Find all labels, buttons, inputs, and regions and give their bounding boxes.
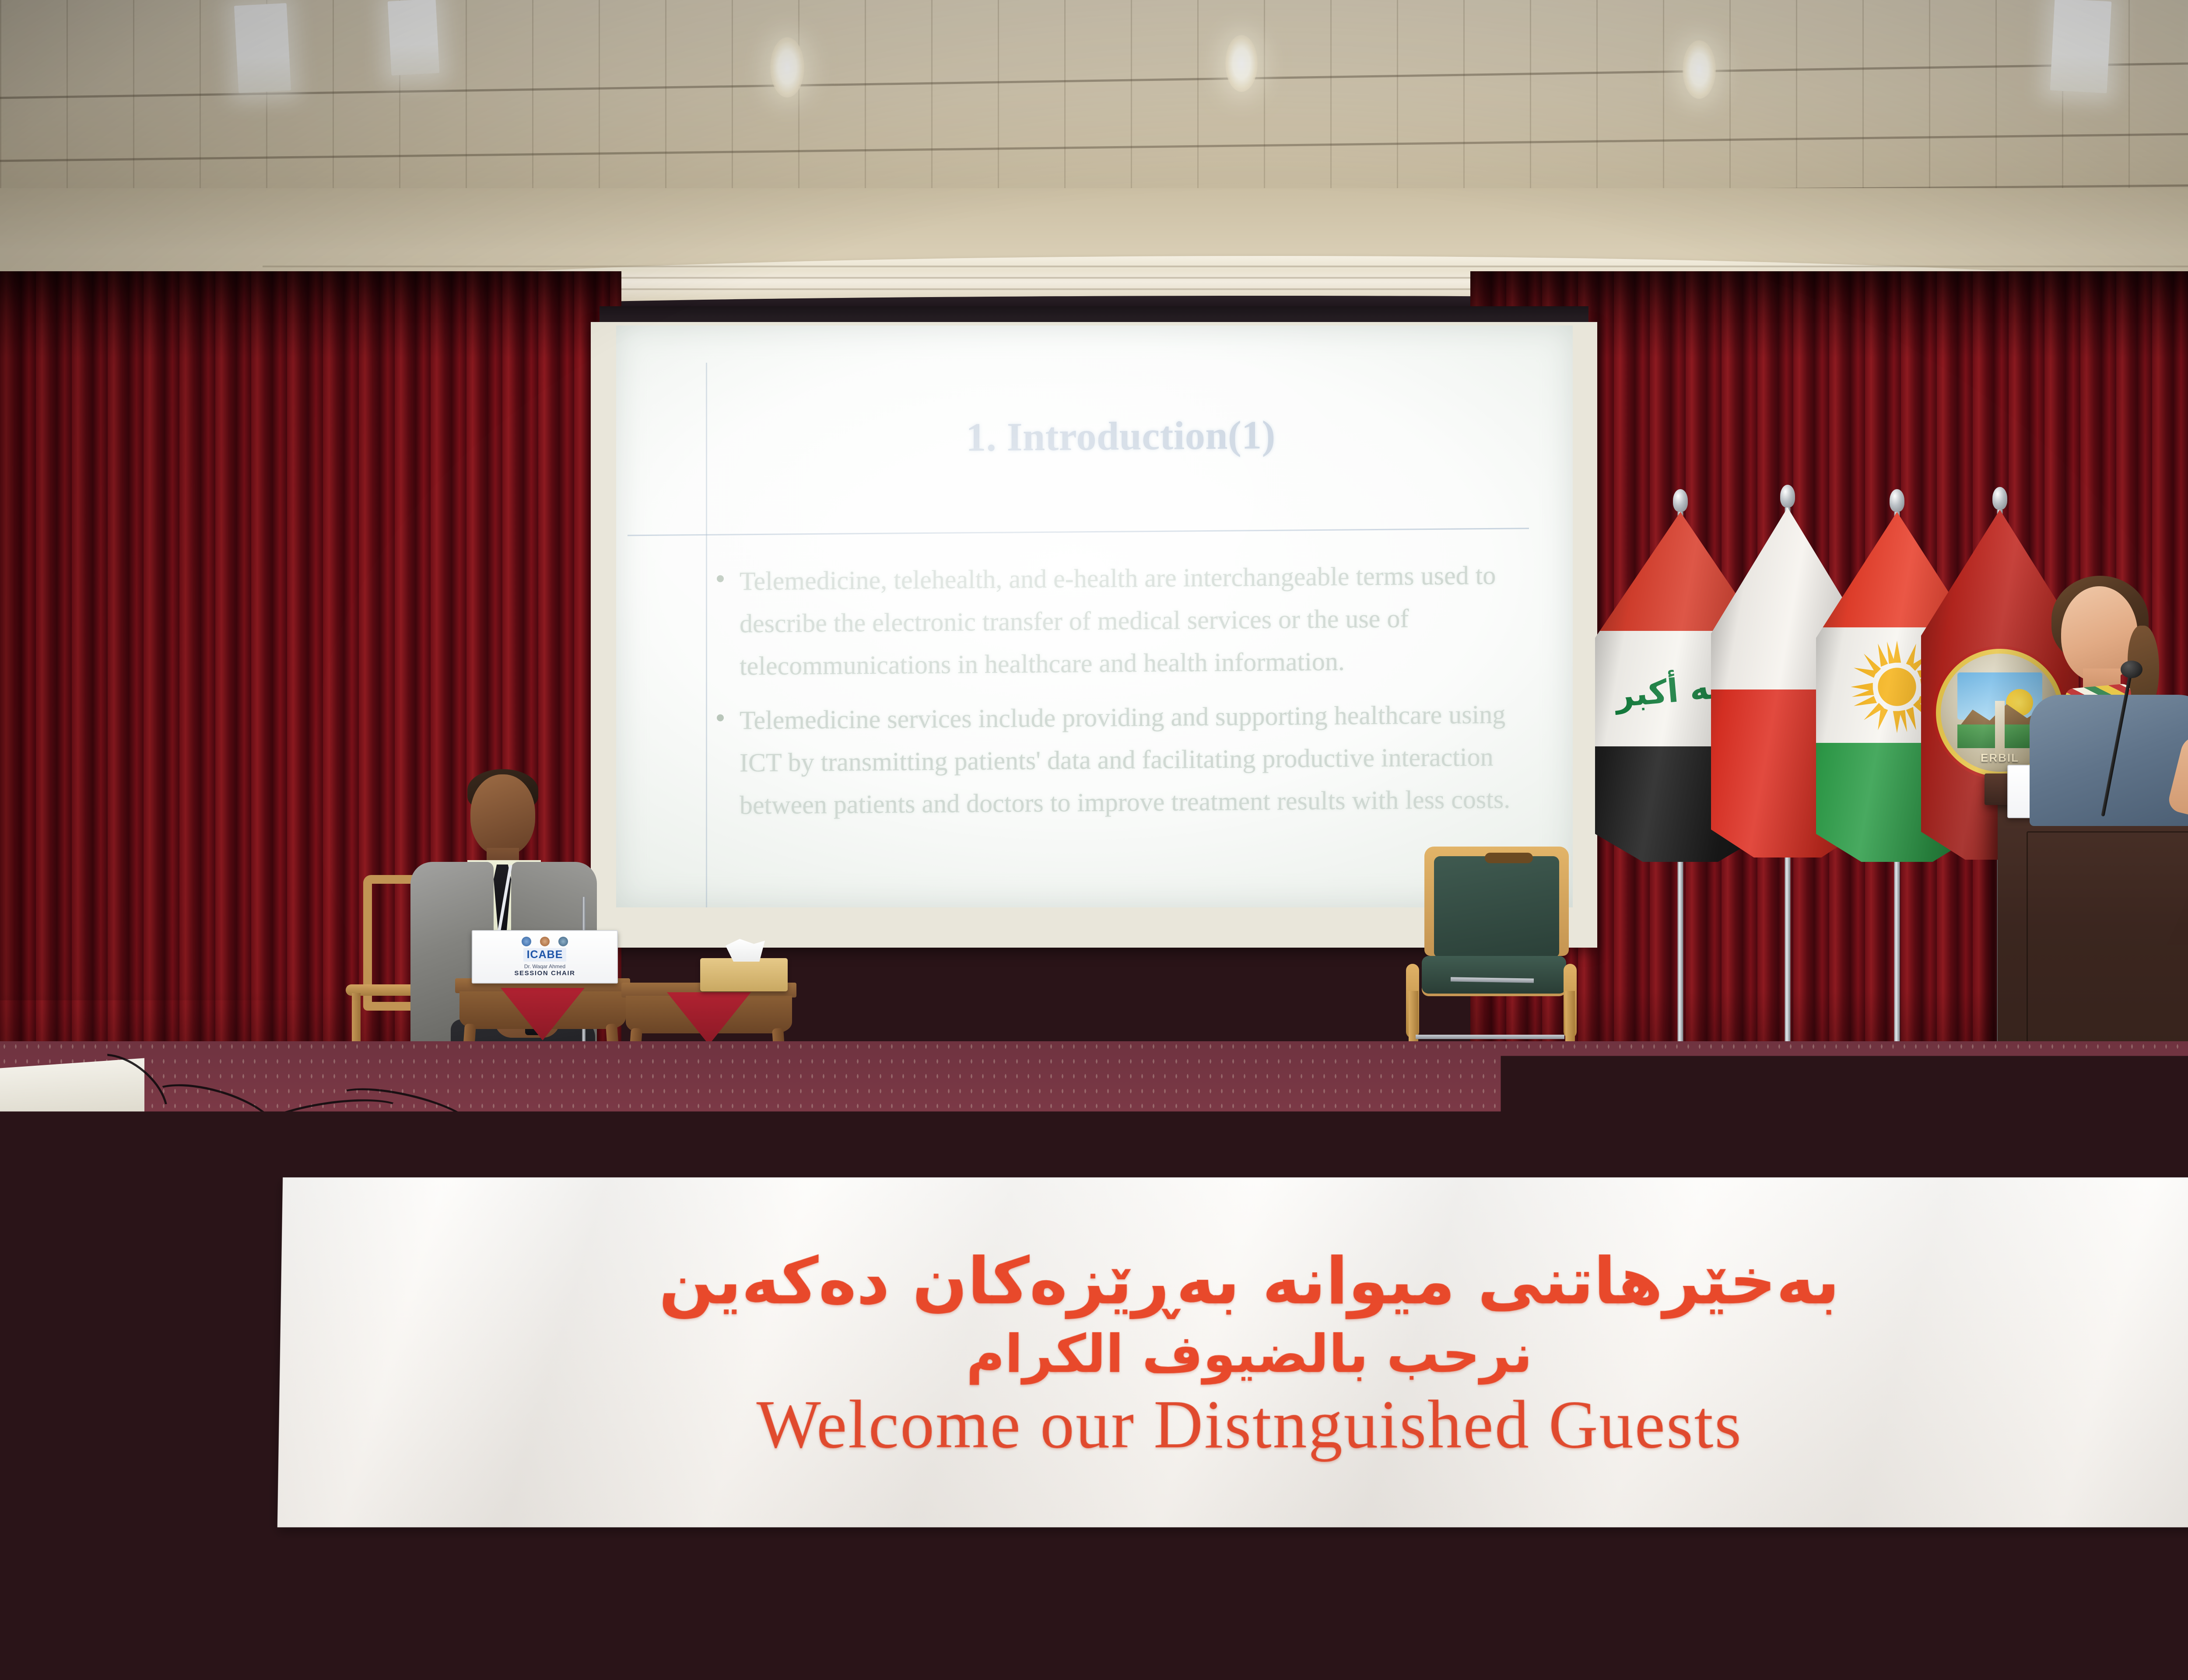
person-name: Dr. Waqar Ahmed (524, 963, 565, 969)
ceiling-panel-light (388, 0, 440, 76)
tissue-box (700, 958, 788, 991)
card-logos (522, 937, 568, 946)
presentation-slide: 1. Introduction(1) Telemedicine, telehea… (616, 325, 1573, 907)
slide-bullet: Telemedicine services include providing … (717, 693, 1531, 827)
slide-bullet-text: Telemedicine services include providing … (740, 693, 1531, 827)
bullet-dot-icon (717, 714, 724, 721)
ceiling-spot-light (770, 37, 804, 98)
slide-body: Telemedicine, telehealth, and e-health a… (717, 554, 1531, 838)
flag-finial-icon (1890, 489, 1904, 512)
banner-arabic-text: نرحب بالضيوف الكرام (310, 1323, 2188, 1386)
chair-back-handle (1485, 853, 1533, 863)
banner-english-text: Welcome our Distnguished Guests (309, 1388, 2188, 1462)
ceiling-spot-light (1683, 40, 1716, 99)
person-role: SESSION CHAIR (514, 969, 575, 977)
blouse (2030, 695, 2188, 826)
carpet-pattern (0, 1501, 2188, 1680)
ceiling-panel-grid (0, 0, 2188, 206)
slide-bullet: Telemedicine, telehealth, and e-health a… (717, 554, 1531, 688)
ceiling (0, 0, 2188, 206)
logo-icon-1 (522, 937, 531, 946)
welcome-banner: بەخێرهاتنی میوانە بەڕێزەکان دەکەین نرحب … (277, 1177, 2188, 1527)
conference-hall-photo: 1. Introduction(1) Telemedicine, telehea… (0, 0, 2188, 1680)
logo-icon-2 (540, 937, 550, 946)
flag-finial-icon (1992, 487, 2007, 510)
conference-brand: ICABE (523, 948, 567, 962)
session-chair-name-card: ICABE Dr. Waqar Ahmed SESSION CHAIR (472, 930, 618, 983)
slide-title: 1. Introduction(1) (616, 409, 1573, 463)
flag-finial-icon (1780, 485, 1795, 507)
microphone-icon (2121, 661, 2142, 678)
slide-bullet-text: Telemedicine, telehealth, and e-health a… (740, 554, 1531, 688)
ceiling-panel-light (2050, 0, 2112, 93)
speaker-at-podium (2000, 573, 2188, 818)
ceiling-panel-light (234, 3, 291, 93)
face (470, 774, 535, 856)
flag-finial-icon (1673, 489, 1688, 512)
ceiling-spot-light (1225, 35, 1258, 92)
slide-horizontal-rule (628, 528, 1529, 536)
screen-roller-bar (600, 306, 1588, 324)
banner-kurdish-text: بەخێرهاتنی میوانە بەڕێزەکان دەکەین (311, 1242, 2188, 1320)
screen-surface: 1. Introduction(1) Telemedicine, telehea… (616, 325, 1573, 907)
house-floor (0, 1501, 2188, 1680)
bullet-dot-icon (717, 575, 724, 582)
logo-icon-3 (558, 937, 568, 946)
